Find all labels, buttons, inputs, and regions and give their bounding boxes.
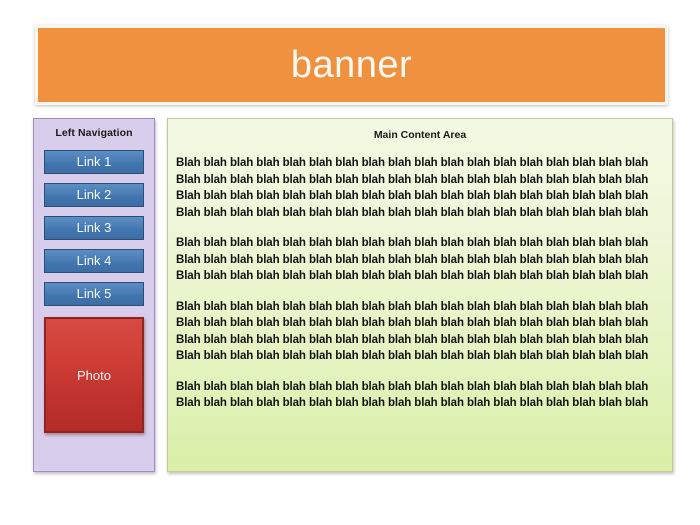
content-line: Blah blah blah blah blah blah blah blah … xyxy=(176,332,664,349)
left-navigation-panel: Left Navigation Link 1 Link 2 Link 3 Lin… xyxy=(33,118,155,472)
sidebar-item-link-5[interactable]: Link 5 xyxy=(44,282,144,306)
photo-label: Photo xyxy=(77,368,111,383)
left-navigation-title: Left Navigation xyxy=(34,119,154,141)
content-line: Blah blah blah blah blah blah blah blah … xyxy=(176,188,664,205)
content-paragraph: Blah blah blah blah blah blah blah blah … xyxy=(176,235,664,285)
content-line: Blah blah blah blah blah blah blah blah … xyxy=(176,395,664,412)
banner-region: banner xyxy=(35,25,668,105)
content-line: Blah blah blah blah blah blah blah blah … xyxy=(176,252,664,269)
content-paragraph: Blah blah blah blah blah blah blah blah … xyxy=(176,155,664,221)
content-paragraph: Blah blah blah blah blah blah blah blah … xyxy=(176,299,664,365)
content-line: Blah blah blah blah blah blah blah blah … xyxy=(176,348,664,365)
content-line: Blah blah blah blah blah blah blah blah … xyxy=(176,379,664,396)
main-content-title: Main Content Area xyxy=(176,119,664,141)
main-content-body: Blah blah blah blah blah blah blah blah … xyxy=(176,141,664,412)
content-line: Blah blah blah blah blah blah blah blah … xyxy=(176,235,664,252)
content-line: Blah blah blah blah blah blah blah blah … xyxy=(176,155,664,172)
content-line: Blah blah blah blah blah blah blah blah … xyxy=(176,205,664,222)
photo-placeholder[interactable]: Photo xyxy=(44,317,144,433)
banner-title: banner xyxy=(291,46,412,84)
content-line: Blah blah blah blah blah blah blah blah … xyxy=(176,315,664,332)
sidebar-item-link-1[interactable]: Link 1 xyxy=(44,150,144,174)
sidebar-item-link-4[interactable]: Link 4 xyxy=(44,249,144,273)
main-content-panel: Main Content Area Blah blah blah blah bl… xyxy=(167,118,673,472)
content-line: Blah blah blah blah blah blah blah blah … xyxy=(176,299,664,316)
sidebar-item-link-3[interactable]: Link 3 xyxy=(44,216,144,240)
content-paragraph: Blah blah blah blah blah blah blah blah … xyxy=(176,379,664,412)
sidebar-item-link-2[interactable]: Link 2 xyxy=(44,183,144,207)
content-line: Blah blah blah blah blah blah blah blah … xyxy=(176,268,664,285)
content-line: Blah blah blah blah blah blah blah blah … xyxy=(176,172,664,189)
